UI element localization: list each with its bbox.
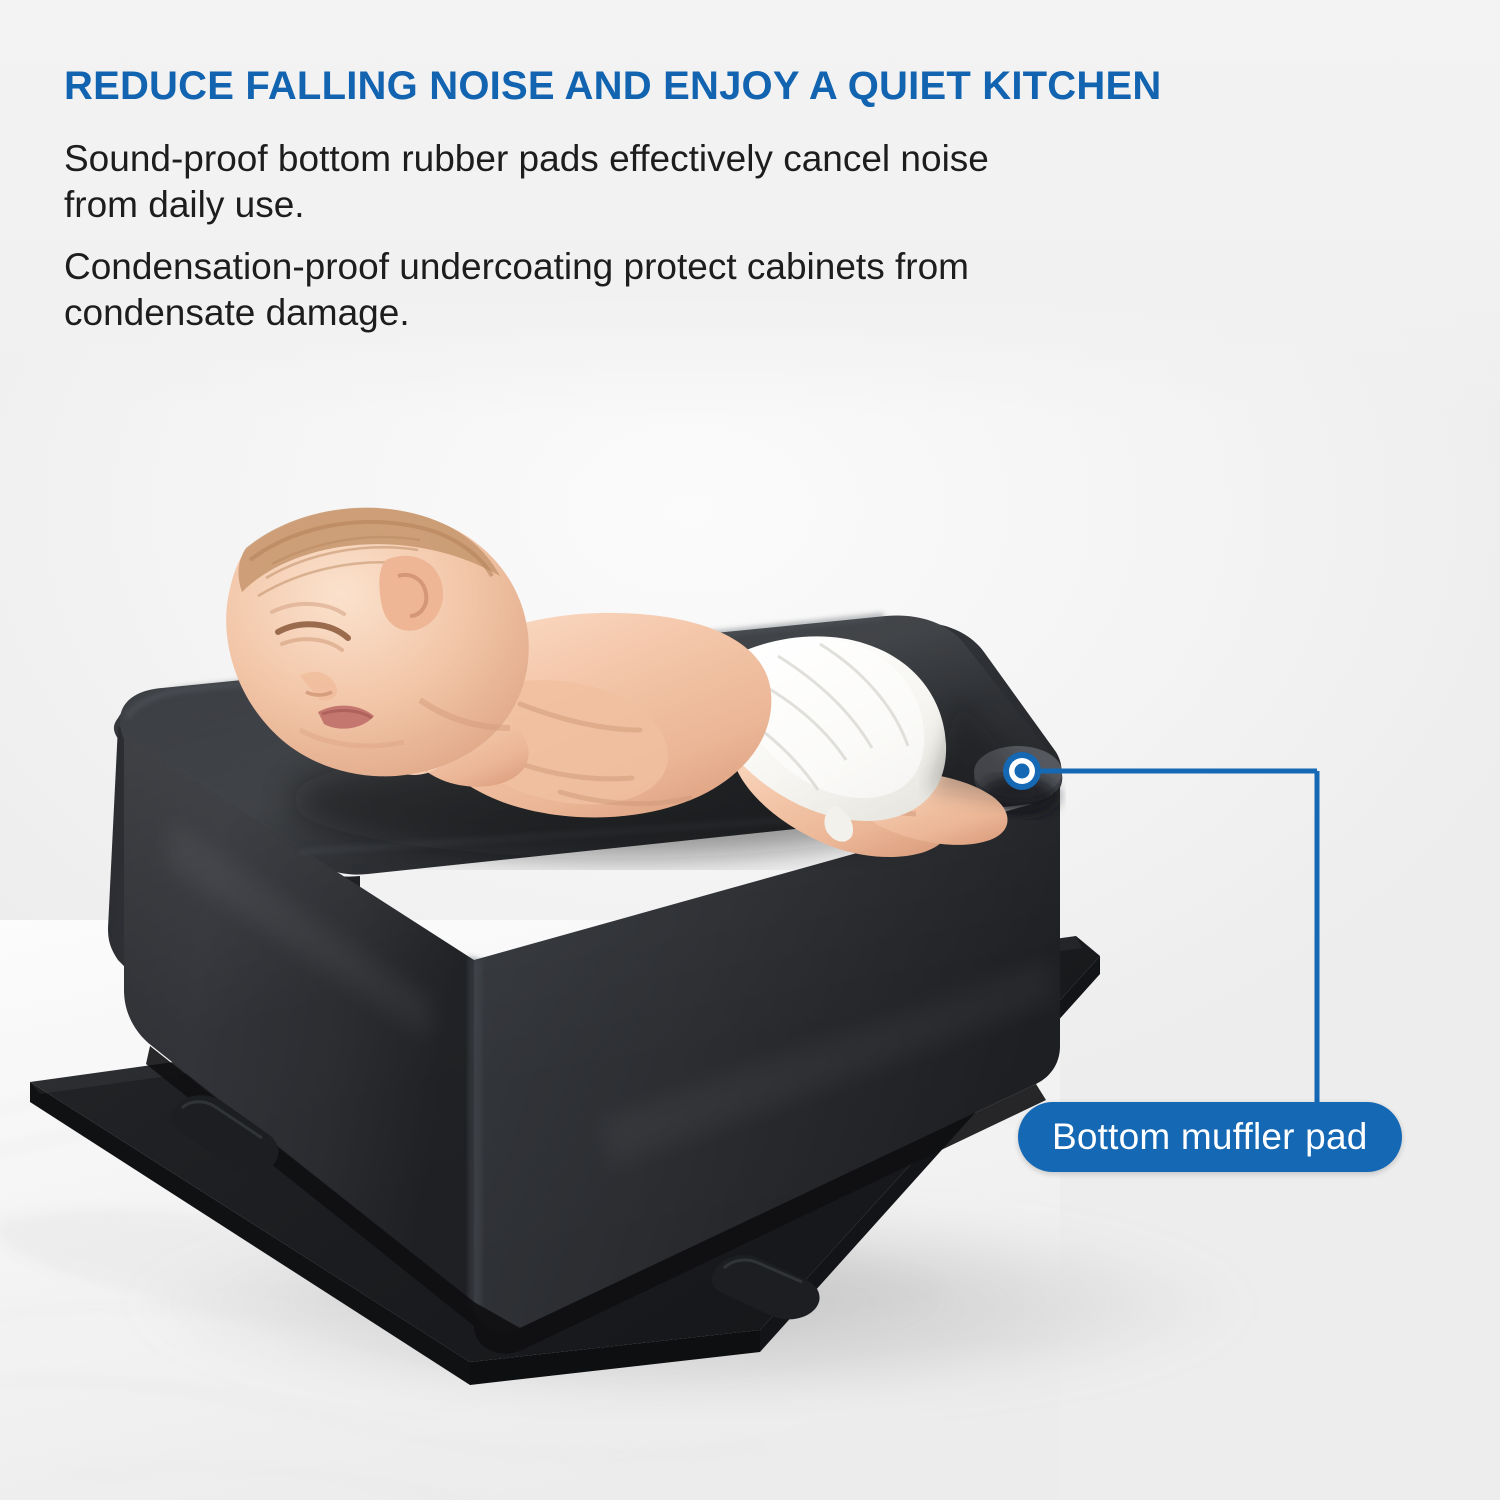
sleeping-baby bbox=[226, 508, 1007, 858]
page-title: REDUCE FALLING NOISE AND ENJOY A QUIET K… bbox=[64, 64, 1404, 109]
feature-paragraph-1: Sound-proof bottom rubber pads effective… bbox=[64, 136, 1004, 228]
feature-description-block: Sound-proof bottom rubber pads effective… bbox=[64, 136, 1004, 336]
callout-badge-bottom-muffler-pad[interactable]: Bottom muffler pad bbox=[1018, 1102, 1402, 1172]
product-feature-image: REDUCE FALLING NOISE AND ENJOY A QUIET K… bbox=[0, 0, 1500, 1500]
product-photo bbox=[0, 400, 1500, 1420]
feature-paragraph-2: Condensation-proof undercoating protect … bbox=[64, 244, 1004, 336]
